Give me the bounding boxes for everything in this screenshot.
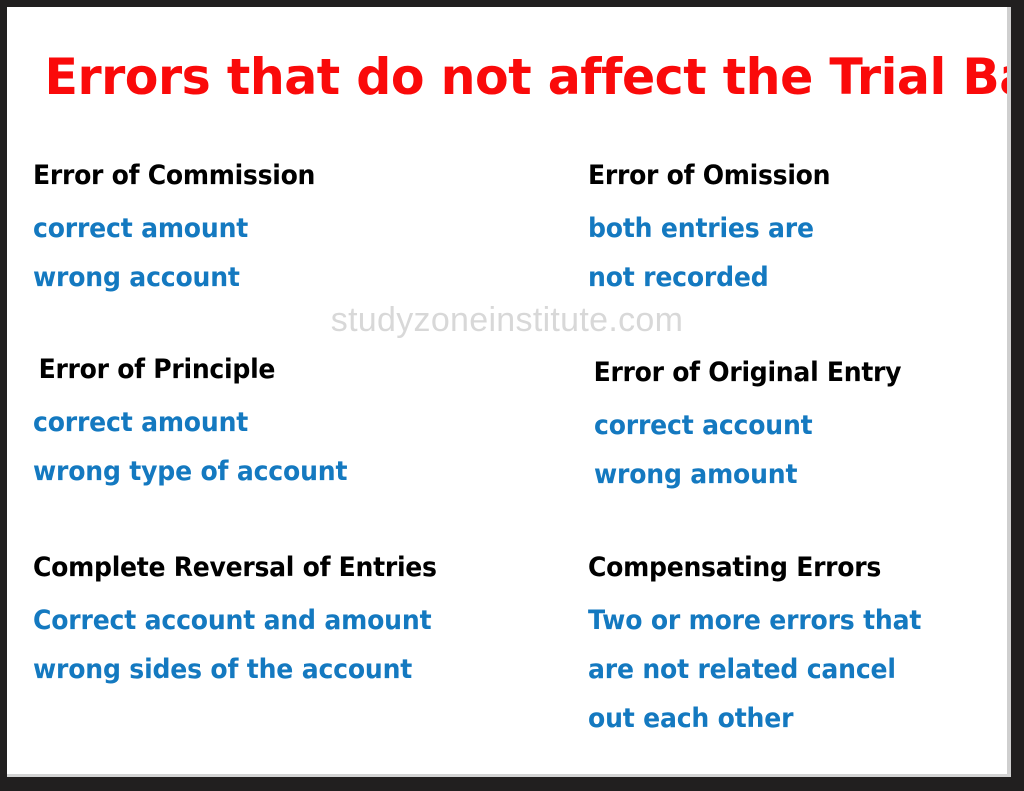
error-block-details: correct amount wrong type of account [33, 398, 371, 496]
error-block-details: correct account wrong amount [588, 401, 925, 499]
error-block-heading: Compensating Errors [588, 551, 921, 585]
error-block-original-entry: Error of Original Entry correct account … [588, 356, 925, 499]
error-detail-line: correct account [594, 401, 902, 450]
frame-border-right [1011, 0, 1024, 791]
error-block-heading: Error of Principle [33, 353, 347, 387]
error-block-heading: Error of Commission [33, 159, 315, 193]
error-detail-line: both entries are [588, 204, 830, 253]
error-detail-line: not recorded [588, 253, 830, 302]
error-block-heading: Error of Original Entry [588, 356, 901, 390]
error-block-omission: Error of Omission both entries are not r… [588, 159, 848, 302]
error-detail-line: correct amount [33, 398, 347, 447]
error-detail-line: wrong amount [594, 450, 902, 499]
error-detail-line: wrong account [33, 253, 315, 302]
error-blocks-grid: Error of Commission correct amount wrong… [7, 7, 1007, 770]
error-detail-line: wrong type of account [33, 447, 347, 496]
error-block-compensating: Compensating Errors Two or more errors t… [588, 551, 946, 743]
frame-border-left [0, 0, 7, 791]
error-block-details: both entries are not recorded [588, 204, 848, 302]
error-block-commission: Error of Commission correct amount wrong… [33, 159, 336, 302]
error-detail-line: Correct account and amount [33, 596, 437, 645]
error-block-details: correct amount wrong account [33, 204, 336, 302]
error-block-complete-reversal: Complete Reversal of Entries Correct acc… [33, 551, 467, 694]
frame-border-bottom [0, 777, 1024, 791]
error-detail-line: wrong sides of the account [33, 645, 437, 694]
slide-poster: Errors that do not affect the Trial Bala… [0, 0, 1024, 791]
error-block-details: Correct account and amount wrong sides o… [33, 596, 467, 694]
error-detail-line: are not related cancel [588, 645, 921, 694]
frame-border-top [0, 0, 1024, 7]
error-block-principle: Error of Principle correct amount wrong … [33, 353, 371, 496]
error-detail-line: correct amount [33, 204, 315, 253]
error-block-details: Two or more errors that are not related … [588, 596, 946, 743]
error-detail-line: Two or more errors that [588, 596, 921, 645]
error-detail-line: out each other [588, 694, 921, 743]
error-block-heading: Complete Reversal of Entries [33, 551, 437, 585]
error-block-heading: Error of Omission [588, 159, 830, 193]
